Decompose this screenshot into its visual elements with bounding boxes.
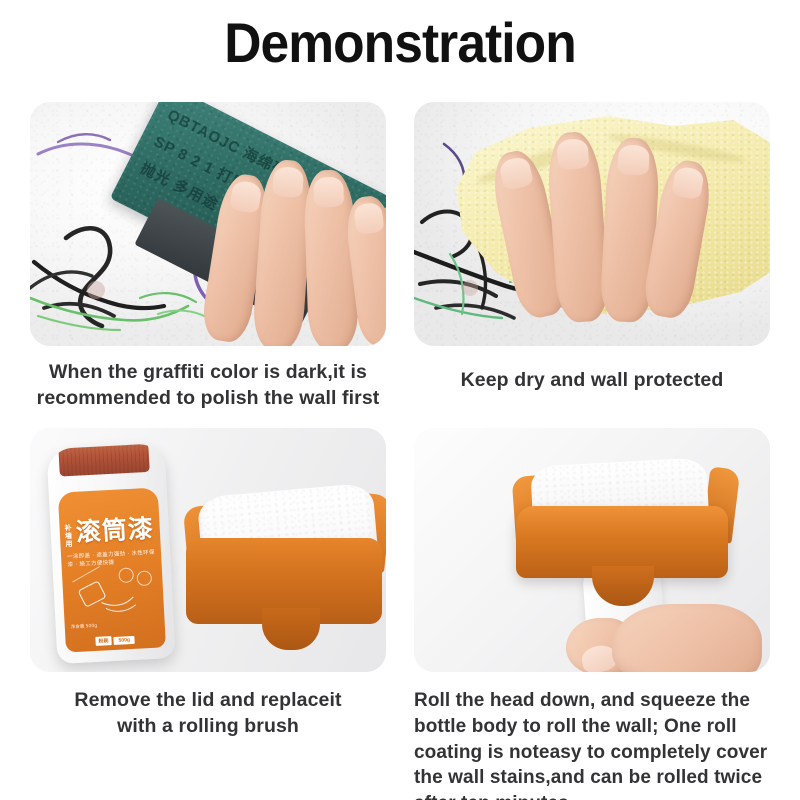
caption-line: Roll the head down, and squeeze the	[414, 688, 770, 714]
paint-bottle: 补墙用 滚筒漆 一涂即盖 · 遮盖力强劲 · 水性环保漆 · 施工方便快捷 净含…	[46, 443, 175, 664]
bottle-label-badge-group: 粉刷 500g	[95, 635, 135, 646]
hand	[556, 596, 756, 672]
fingernail	[313, 177, 344, 208]
caption-line: bottle body to roll the wall; One roll	[414, 714, 770, 740]
caption-line: coating is noteasy to completely cover	[414, 740, 770, 766]
caption-line: after ten minutes	[414, 791, 770, 800]
demonstration-infographic: Demonstration	[0, 0, 800, 800]
panel-keep-dry: Keep dry and wall protected	[414, 102, 770, 394]
caption-line: the wall stains,and can be rolled twice	[414, 765, 770, 791]
panel-polish-wall: QBTAOJC 海绵砂块SP 8 2 1 打磨块抛光 多用途	[30, 102, 386, 412]
panel-roll-wall-caption: Roll the head down, and squeeze the bott…	[414, 688, 770, 800]
panel-polish-wall-caption: When the graffiti color is dark,it is re…	[30, 360, 386, 412]
panel-roll-wall-photo	[414, 428, 770, 672]
fingernail	[556, 138, 589, 170]
page-title: Demonstration	[32, 10, 768, 75]
panel-polish-wall-photo: QBTAOJC 海绵砂块SP 8 2 1 打磨块抛光 多用途	[30, 102, 386, 346]
bottle-label: 补墙用 滚筒漆 一涂即盖 · 遮盖力强劲 · 水性环保漆 · 施工方便快捷 净含…	[58, 487, 166, 652]
bottle-label-illustration	[70, 560, 157, 626]
hand	[500, 126, 730, 342]
bottle-label-title: 滚筒漆	[75, 516, 154, 545]
fingernail	[229, 180, 262, 214]
panel-replace-lid: 补墙用 滚筒漆 一涂即盖 · 遮盖力强劲 · 水性环保漆 · 施工方便快捷 净含…	[30, 428, 386, 740]
hand	[212, 152, 386, 346]
fingernail	[617, 144, 650, 176]
bottle-label-weight: 500g	[113, 635, 135, 644]
panel-roll-wall: Roll the head down, and squeeze the bott…	[414, 428, 770, 800]
fingernail	[498, 156, 534, 192]
panel-replace-lid-caption: Remove the lid and replaceit with a roll…	[30, 688, 386, 740]
caption-line: Keep dry and wall protected	[414, 368, 770, 394]
panel-keep-dry-photo	[414, 102, 770, 346]
roller-neck	[262, 608, 320, 650]
bottle-cap	[58, 443, 150, 477]
panel-keep-dry-caption: Keep dry and wall protected	[414, 368, 770, 394]
fingernail	[353, 202, 384, 235]
bottle-label-badge: 粉刷	[95, 636, 111, 646]
panel-replace-lid-photo: 补墙用 滚筒漆 一涂即盖 · 遮盖力强劲 · 水性环保漆 · 施工方便快捷 净含…	[30, 428, 386, 672]
roller-brush-head	[178, 480, 386, 648]
roller-brush-head	[506, 462, 740, 594]
caption-line: with a rolling brush	[30, 714, 386, 740]
fingernail	[671, 166, 705, 201]
cap-ribbing	[58, 443, 150, 477]
palm	[612, 604, 762, 672]
fingernail	[272, 166, 304, 198]
caption-line: Remove the lid and replaceit	[30, 688, 386, 714]
caption-line: When the graffiti color is dark,it is	[30, 360, 386, 386]
caption-line: recommended to polish the wall first	[30, 386, 386, 412]
